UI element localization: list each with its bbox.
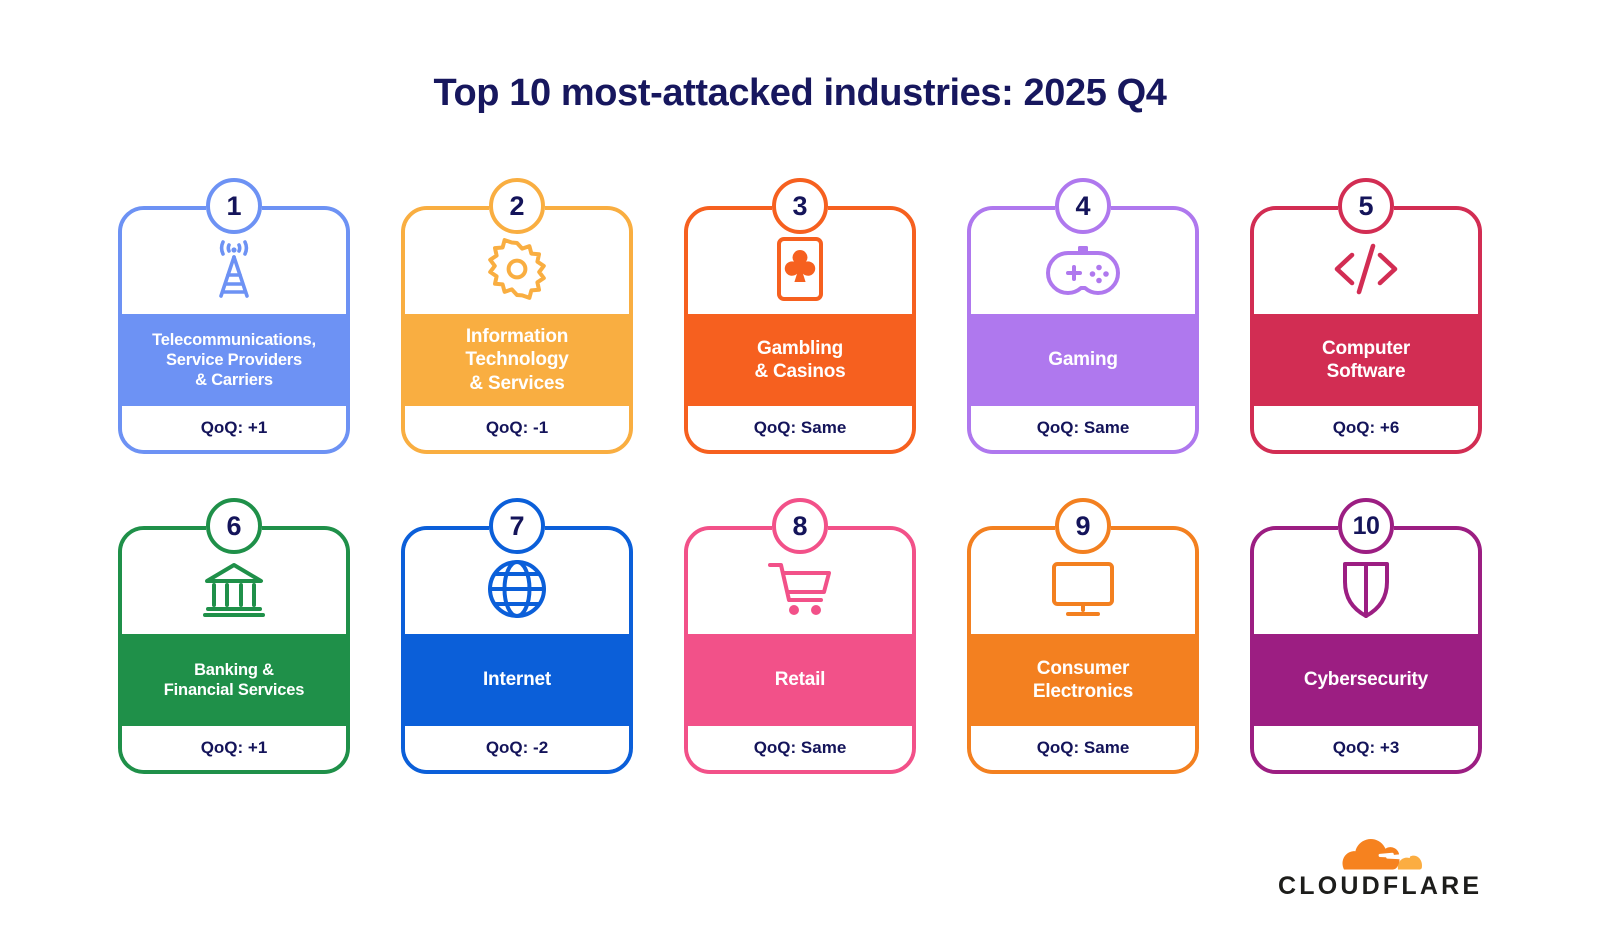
radio-tower-icon (203, 236, 265, 302)
industry-name: Gaming (1048, 348, 1118, 371)
card-body: Cybersecurity QoQ: +3 (1250, 526, 1482, 774)
shopping-cart-icon (766, 559, 834, 619)
card-name-band: Banking & Financial Services (122, 634, 346, 726)
industry-card: Information Technology & Services QoQ: -… (401, 178, 633, 454)
gear-icon (485, 237, 549, 301)
card-name-band: Cybersecurity (1254, 634, 1478, 726)
playing-card-club-icon (776, 236, 824, 302)
card-body: Consumer Electronics QoQ: Same (967, 526, 1199, 774)
industry-card: Computer Software QoQ: +6 5 (1250, 178, 1482, 454)
card-name-band: Gambling & Casinos (688, 314, 912, 406)
shield-icon (1341, 558, 1391, 620)
card-body: Retail QoQ: Same (684, 526, 916, 774)
qoq-change: QoQ: Same (754, 418, 847, 438)
industry-card: Internet QoQ: -2 7 (401, 498, 633, 774)
industry-card: Cybersecurity QoQ: +3 10 (1250, 498, 1482, 774)
rank-badge: 7 (489, 498, 545, 554)
card-name-band: Retail (688, 634, 912, 726)
rank-badge: 4 (1055, 178, 1111, 234)
industry-name: Internet (483, 668, 551, 691)
qoq-change: QoQ: +3 (1333, 738, 1400, 758)
card-qoq-zone: QoQ: +6 (1254, 406, 1478, 450)
cloudflare-logo: CLOUDFLARE (1278, 828, 1468, 899)
rank-badge: 2 (489, 178, 545, 234)
card-body: Computer Software QoQ: +6 (1250, 206, 1482, 454)
industry-name: Gambling & Casinos (754, 337, 845, 383)
qoq-change: QoQ: -1 (486, 418, 548, 438)
cloudflare-cloud-icon (1318, 828, 1428, 872)
card-qoq-zone: QoQ: Same (688, 406, 912, 450)
card-qoq-zone: QoQ: +3 (1254, 726, 1478, 770)
card-qoq-zone: QoQ: Same (971, 406, 1195, 450)
qoq-change: QoQ: -2 (486, 738, 548, 758)
card-qoq-zone: QoQ: -2 (405, 726, 629, 770)
cloudflare-wordmark: CLOUDFLARE (1278, 874, 1468, 899)
card-body: Gaming QoQ: Same (967, 206, 1199, 454)
rank-badge: 9 (1055, 498, 1111, 554)
card-name-band: Computer Software (1254, 314, 1478, 406)
globe-icon (486, 558, 548, 620)
qoq-change: QoQ: Same (1037, 418, 1130, 438)
card-name-band: Internet (405, 634, 629, 726)
card-qoq-zone: QoQ: Same (688, 726, 912, 770)
card-name-band: Gaming (971, 314, 1195, 406)
qoq-change: QoQ: +1 (201, 738, 268, 758)
card-body: Telecommunications, Service Providers & … (118, 206, 350, 454)
card-name-band: Telecommunications, Service Providers & … (122, 314, 346, 406)
industry-card: Telecommunications, Service Providers & … (118, 178, 350, 454)
rank-badge: 10 (1338, 498, 1394, 554)
card-qoq-zone: QoQ: +1 (122, 406, 346, 450)
gamepad-icon (1046, 242, 1120, 296)
industry-name: Cybersecurity (1304, 668, 1428, 691)
card-body: Information Technology & Services QoQ: -… (401, 206, 633, 454)
industry-card-grid: Telecommunications, Service Providers & … (118, 178, 1482, 774)
bank-building-icon (201, 559, 267, 619)
industry-name: Telecommunications, Service Providers & … (152, 330, 316, 390)
rank-badge: 1 (206, 178, 262, 234)
card-body: Banking & Financial Services QoQ: +1 (118, 526, 350, 774)
industry-name: Information Technology & Services (465, 325, 568, 395)
rank-badge: 6 (206, 498, 262, 554)
industry-card: Consumer Electronics QoQ: Same 9 (967, 498, 1199, 774)
page-title: Top 10 most-attacked industries: 2025 Q4 (0, 72, 1600, 115)
industry-card: Retail QoQ: Same 8 (684, 498, 916, 774)
industry-name: Computer Software (1322, 337, 1410, 383)
qoq-change: QoQ: +1 (201, 418, 268, 438)
card-qoq-zone: QoQ: -1 (405, 406, 629, 450)
qoq-change: QoQ: Same (1037, 738, 1130, 758)
industry-name: Consumer Electronics (1033, 657, 1133, 703)
industry-card: Banking & Financial Services QoQ: +1 6 (118, 498, 350, 774)
code-brackets-icon (1330, 239, 1402, 299)
rank-badge: 3 (772, 178, 828, 234)
industry-name: Banking & Financial Services (164, 660, 304, 700)
industry-card: Gambling & Casinos QoQ: Same 3 (684, 178, 916, 454)
industry-name: Retail (775, 668, 826, 691)
qoq-change: QoQ: Same (754, 738, 847, 758)
card-name-band: Consumer Electronics (971, 634, 1195, 726)
industry-card: Gaming QoQ: Same 4 (967, 178, 1199, 454)
card-body: Internet QoQ: -2 (401, 526, 633, 774)
card-name-band: Information Technology & Services (405, 314, 629, 406)
infographic-page: Top 10 most-attacked industries: 2025 Q4… (0, 0, 1600, 948)
card-qoq-zone: QoQ: Same (971, 726, 1195, 770)
qoq-change: QoQ: +6 (1333, 418, 1400, 438)
card-body: Gambling & Casinos QoQ: Same (684, 206, 916, 454)
rank-badge: 8 (772, 498, 828, 554)
card-qoq-zone: QoQ: +1 (122, 726, 346, 770)
rank-badge: 5 (1338, 178, 1394, 234)
monitor-icon (1050, 560, 1116, 618)
